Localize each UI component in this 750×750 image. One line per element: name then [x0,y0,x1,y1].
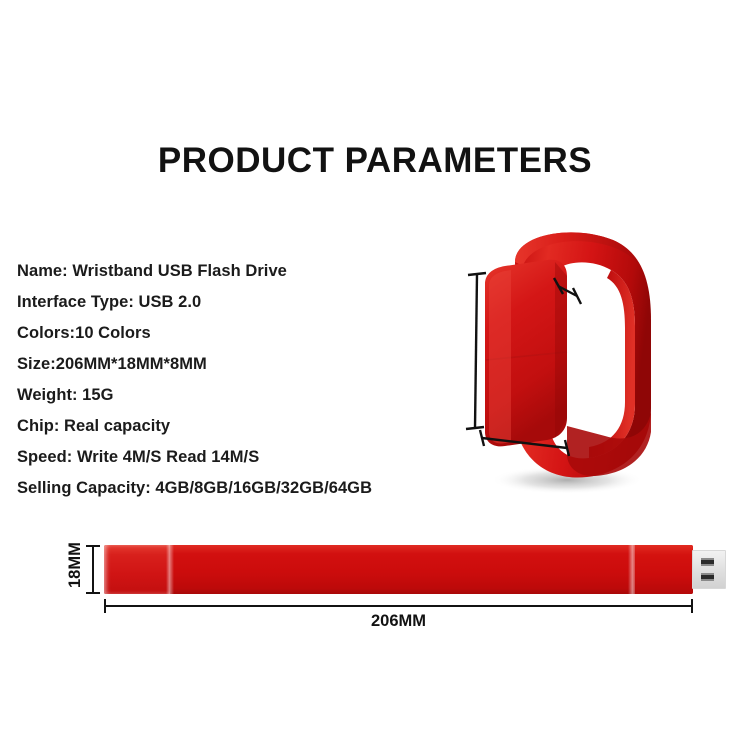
spec-row-size: Size:206MM*18MM*8MM [17,349,437,380]
wristband-strip [104,545,693,594]
usb-contact-lower [701,573,714,581]
coiled-wristband-illustration [455,222,660,497]
spec-row-interface-type: Interface Type: USB 2.0 [17,287,437,318]
dimension-vertical-cap-top [86,545,100,547]
strip-right-module [635,545,693,594]
spec-row-weight: Weight: 15G [17,380,437,411]
usb-contact-upper [701,558,714,566]
strip-left-module [104,545,170,594]
specification-list: Name: Wristband USB Flash Drive Interfac… [17,256,437,504]
page-title: PRODUCT PARAMETERS [0,140,750,182]
usb-module-highlight [489,270,511,443]
spec-row-selling-capacity: Selling Capacity: 4GB/8GB/16GB/32GB/64GB [17,473,437,504]
usb-connector [692,550,726,589]
flat-strip-diagram: 18MM 206MM [55,528,745,643]
spec-row-chip: Chip: Real capacity [17,411,437,442]
dimension-horizontal-cap-right [691,599,693,613]
coiled-wristband-photo: 8MM 41MM 18MM [455,222,660,497]
dimension-horizontal-cap-left [104,599,106,613]
dimension-label-206mm-length: 206MM [104,612,693,631]
spec-row-colors: Colors:10 Colors [17,318,437,349]
dimension-vertical-cap-bottom [86,592,100,594]
dimension-vertical-line [92,545,94,594]
spec-row-speed: Speed: Write 4M/S Read 14M/S [17,442,437,473]
dimension-horizontal-line [104,605,693,607]
product-parameters-page: PRODUCT PARAMETERS Name: Wristband USB F… [0,0,750,750]
strip-left-seam [166,545,174,594]
spec-row-name: Name: Wristband USB Flash Drive [17,256,437,287]
dimension-label-18mm-width: 18MM [66,542,85,588]
